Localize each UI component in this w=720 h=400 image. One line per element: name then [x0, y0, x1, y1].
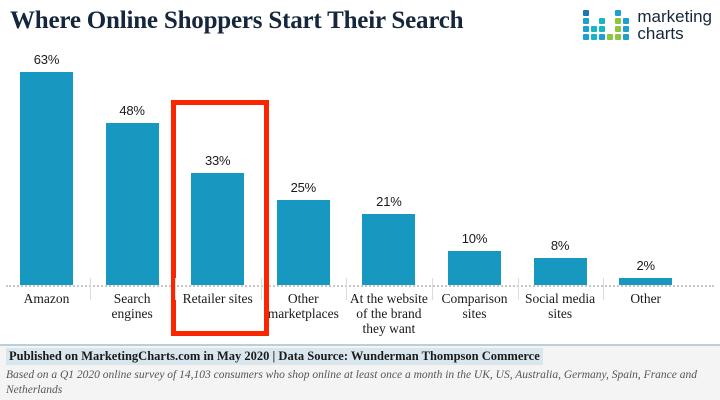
- x-axis-label-line: Search engines: [93, 291, 172, 321]
- highlight-box-annotation: [171, 100, 269, 336]
- x-axis-label: Other: [606, 291, 685, 306]
- bar-group[interactable]: 21%: [362, 48, 415, 285]
- logo-dot: [599, 34, 605, 40]
- x-axis-label: Othermarketplaces: [264, 291, 343, 321]
- chart-footer: Published on MarketingCharts.com in May …: [0, 344, 720, 400]
- x-axis-label-line: they want: [349, 321, 428, 336]
- logo-dot: [623, 18, 629, 24]
- bar-value-label: 21%: [376, 194, 401, 209]
- logo-dot: [599, 18, 605, 24]
- x-axis-label-line: At the website: [349, 291, 428, 306]
- bar-value-label: 2%: [636, 258, 654, 273]
- chart-page: Where Online Shoppers Start Their Search…: [0, 0, 720, 400]
- x-axis-label-line: of the brand: [349, 306, 428, 321]
- bar[interactable]: [20, 72, 73, 285]
- bar[interactable]: [619, 278, 672, 285]
- bar-chart-plot: 63%48%33%25%21%10%8%2% AmazonSearch engi…: [0, 48, 720, 344]
- logo-dot: [583, 18, 589, 24]
- logo-dot: [591, 18, 597, 24]
- logo-dot: [591, 10, 597, 16]
- x-axis-label-line: Amazon: [7, 291, 86, 306]
- footer-divider: [0, 344, 720, 346]
- logo-dot: [599, 10, 605, 16]
- bar-group[interactable]: 25%: [277, 48, 330, 285]
- x-axis-label-line: Other: [606, 291, 685, 306]
- bar[interactable]: [277, 200, 330, 285]
- x-axis-label-line: marketplaces: [264, 306, 343, 321]
- bar-value-label: 10%: [462, 231, 487, 246]
- logo-dot: [583, 26, 589, 32]
- x-axis-label: Social mediasites: [521, 291, 600, 321]
- x-axis-label: Amazon: [7, 291, 86, 306]
- bar-value-label: 48%: [119, 103, 144, 118]
- bar[interactable]: [362, 214, 415, 285]
- logo-dot: [623, 34, 629, 40]
- logo-dot: [615, 10, 621, 16]
- chart-header: Where Online Shoppers Start Their Search…: [0, 0, 720, 48]
- bar-value-label: 25%: [291, 180, 316, 195]
- x-axis-tick: [90, 278, 91, 300]
- bar-group[interactable]: 8%: [534, 48, 587, 285]
- x-axis-tick: [261, 278, 262, 300]
- bar-group[interactable]: 10%: [448, 48, 501, 285]
- x-axis-label-line: Social media: [521, 291, 600, 306]
- x-axis-label: Search engines: [93, 291, 172, 321]
- logo-dot: [607, 26, 613, 32]
- logo-dot: [591, 34, 597, 40]
- x-axis-tick: [432, 278, 433, 300]
- x-axis-label-line: Other: [264, 291, 343, 306]
- logo-dot: [607, 34, 613, 40]
- brand-logo-line2: charts: [637, 25, 712, 42]
- x-axis-tick: [175, 278, 176, 300]
- logo-dot: [615, 18, 621, 24]
- bar-group[interactable]: 48%: [106, 48, 159, 285]
- bar-group[interactable]: 2%: [619, 48, 672, 285]
- footer-note: Based on a Q1 2020 online survey of 14,1…: [6, 368, 712, 398]
- logo-dot: [623, 10, 629, 16]
- brand-logo-line1: marketing: [637, 8, 712, 25]
- logo-dot: [607, 18, 613, 24]
- bar[interactable]: [534, 258, 587, 285]
- bar[interactable]: [448, 251, 501, 285]
- x-axis-tick: [603, 278, 604, 300]
- logo-dot: [607, 10, 613, 16]
- x-axis-label: At the websiteof the brandthey want: [349, 291, 428, 336]
- x-axis-label-line: sites: [435, 306, 514, 321]
- x-axis-label: Comparisonsites: [435, 291, 514, 321]
- x-axis-label-line: Comparison: [435, 291, 514, 306]
- page-title: Where Online Shoppers Start Their Search: [10, 7, 463, 35]
- x-axis-tick: [518, 278, 519, 300]
- logo-dot: [599, 26, 605, 32]
- footer-published: Published on MarketingCharts.com in May …: [6, 348, 543, 365]
- logo-dot: [615, 26, 621, 32]
- brand-logo-text: marketing charts: [637, 8, 712, 42]
- bar-value-label: 63%: [34, 52, 59, 67]
- logo-dot: [591, 26, 597, 32]
- x-axis-tick: [346, 278, 347, 300]
- bar-group[interactable]: 63%: [20, 48, 73, 285]
- x-axis-baseline: [6, 285, 714, 287]
- logo-dot: [583, 10, 589, 16]
- dot-matrix-icon: [583, 10, 629, 40]
- logo-dot: [583, 34, 589, 40]
- logo-dot: [615, 34, 621, 40]
- logo-dot: [623, 26, 629, 32]
- bar[interactable]: [106, 123, 159, 286]
- brand-logo: marketing charts: [583, 8, 712, 42]
- x-axis-label-line: sites: [521, 306, 600, 321]
- bar-value-label: 8%: [551, 238, 569, 253]
